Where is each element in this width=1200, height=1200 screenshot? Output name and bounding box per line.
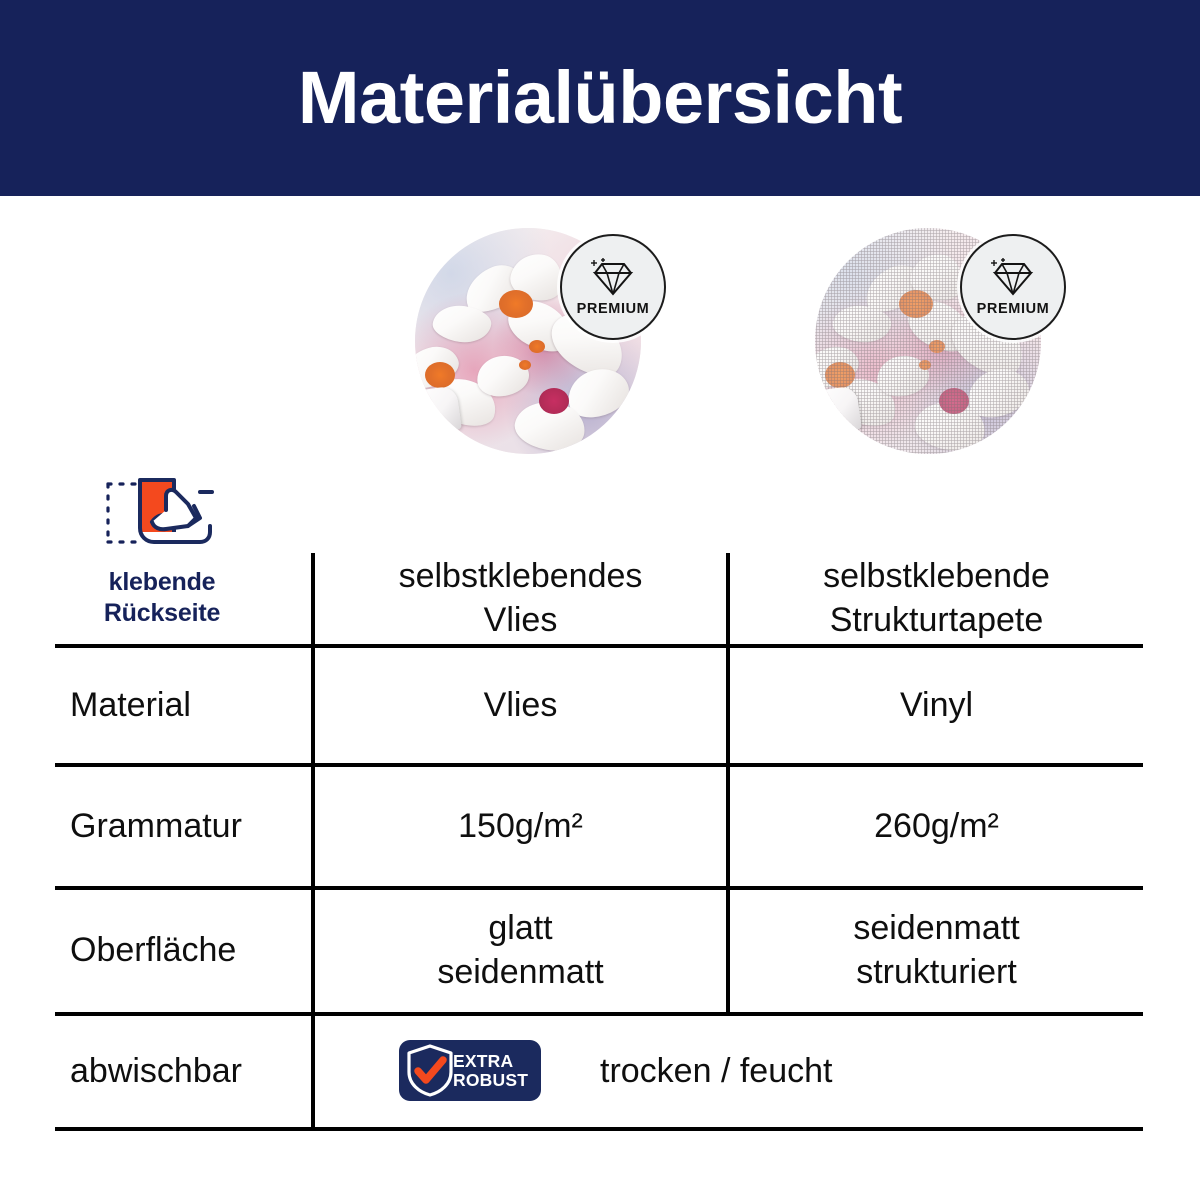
row3-label: Oberfläche bbox=[70, 929, 236, 973]
peel-corner bbox=[415, 385, 462, 434]
table-cell-material-vinyl: Vinyl bbox=[730, 648, 1143, 763]
diamond-icon bbox=[990, 258, 1036, 298]
row3-col1-line1: glatt bbox=[437, 907, 603, 951]
shield-check-icon bbox=[405, 1044, 455, 1102]
premium-badge: PREMIUM bbox=[560, 234, 666, 340]
table-cell-row0-col2: selbstklebende Strukturtapete bbox=[730, 553, 1143, 644]
row0-col2-line1: selbstklebende bbox=[823, 555, 1050, 599]
material-overview-page: Materialübersicht bbox=[0, 0, 1200, 1200]
row3-col2-line1: seidenmatt bbox=[853, 907, 1019, 951]
premium-badge-label: PREMIUM bbox=[977, 301, 1050, 317]
table-row-label-abwischbar: abwischbar bbox=[55, 1016, 326, 1127]
premium-badge: PREMIUM bbox=[960, 234, 1066, 340]
premium-badge-label: PREMIUM bbox=[577, 301, 650, 317]
table-cell-grammatur-col1: 150g/m² bbox=[315, 767, 726, 886]
row2-col1: 150g/m² bbox=[458, 805, 583, 849]
table-bottom-border bbox=[55, 1127, 1143, 1131]
row4-merged-value: trocken / feucht bbox=[600, 1050, 832, 1094]
row0-col1-line1: selbstklebendes bbox=[399, 555, 643, 599]
row0-col1-line2: Vlies bbox=[399, 599, 643, 643]
extra-robust-label: EXTRA ROBUST bbox=[453, 1052, 528, 1089]
row3-col1-line2: seidenmatt bbox=[437, 951, 603, 995]
extra-robust-line1: EXTRA bbox=[453, 1051, 513, 1071]
product-image-selbstklebende-strukturtapete: PREMIUM bbox=[815, 228, 1041, 454]
extra-robust-badge: EXTRA ROBUST bbox=[399, 1040, 541, 1101]
flower-center bbox=[499, 290, 533, 318]
row2-col2: 260g/m² bbox=[874, 805, 999, 849]
diamond-icon bbox=[590, 258, 636, 298]
row4-label: abwischbar bbox=[70, 1050, 242, 1094]
table-row-label-material: Material bbox=[55, 648, 326, 763]
peeling-sticker-hand-icon bbox=[96, 470, 228, 560]
page-header: Materialübersicht bbox=[0, 0, 1200, 196]
extra-robust-line2: ROBUST bbox=[453, 1070, 528, 1090]
material-spec-table: klebende Rückseite selbstklebendes Vlies… bbox=[55, 553, 1143, 1131]
table-cell-oberflaeche-col1: glatt seidenmatt bbox=[315, 890, 726, 1012]
row0-col2-line2: Strukturtapete bbox=[823, 599, 1050, 643]
table-cell-material-vlies: Vlies bbox=[315, 648, 726, 763]
row1-label: Material bbox=[70, 684, 191, 728]
flower-center bbox=[425, 362, 455, 388]
flower-center bbox=[539, 388, 569, 414]
table-row-label-grammatur: Grammatur bbox=[55, 767, 326, 886]
table-cell-oberflaeche-col2: seidenmatt strukturiert bbox=[730, 890, 1143, 1012]
paint-accent bbox=[519, 360, 531, 370]
table-cell-row0-col1: selbstklebendes Vlies bbox=[315, 553, 726, 644]
peel-corner bbox=[815, 385, 862, 434]
table-row-label-oberflaeche: Oberfläche bbox=[55, 890, 326, 1012]
page-title: Materialübersicht bbox=[298, 61, 902, 135]
row3-col2-line2: strukturiert bbox=[853, 951, 1019, 995]
row1-col2: Vinyl bbox=[900, 684, 973, 728]
row1-col1: Vlies bbox=[484, 684, 558, 728]
row2-label: Grammatur bbox=[70, 805, 242, 849]
product-image-selbstklebendes-vlies: PREMIUM bbox=[415, 228, 641, 454]
paint-accent bbox=[529, 340, 545, 353]
table-cell-row0-label: klebende Rückseite bbox=[55, 553, 326, 644]
table-cell-grammatur-col2: 260g/m² bbox=[730, 767, 1143, 886]
